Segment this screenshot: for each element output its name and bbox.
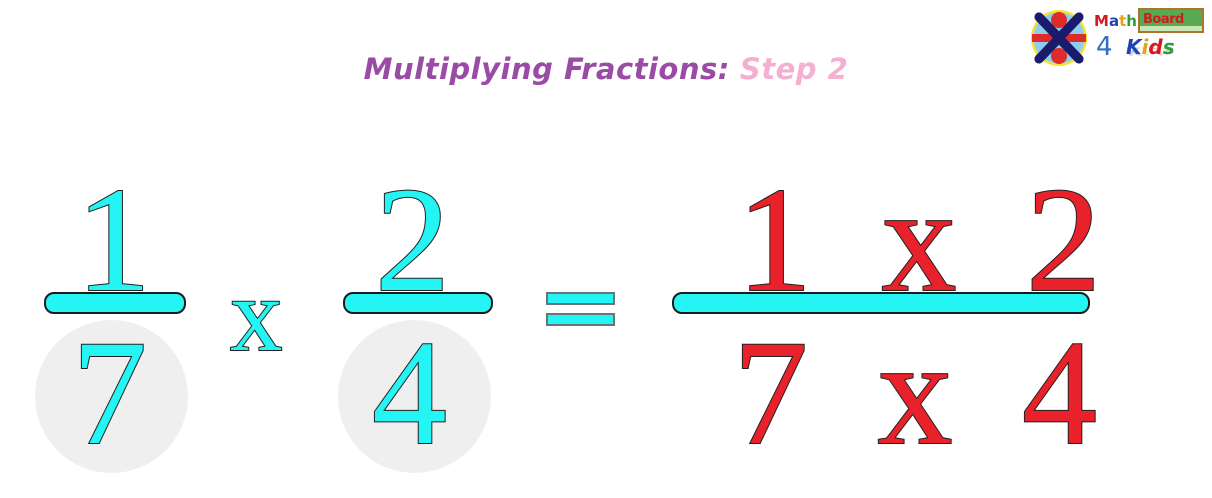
- equals-bar-bottom: [546, 313, 615, 326]
- equation-canvas: 1 7 x 2 4 1 x 2 7 x 4: [0, 0, 1212, 498]
- result-denominator: 7 x 4: [733, 318, 1113, 468]
- fraction2-denominator: 4: [372, 318, 447, 468]
- multiplication-operator-left: x: [230, 262, 283, 367]
- fraction1-denominator: 7: [72, 318, 147, 468]
- equals-bar-top: [546, 292, 615, 305]
